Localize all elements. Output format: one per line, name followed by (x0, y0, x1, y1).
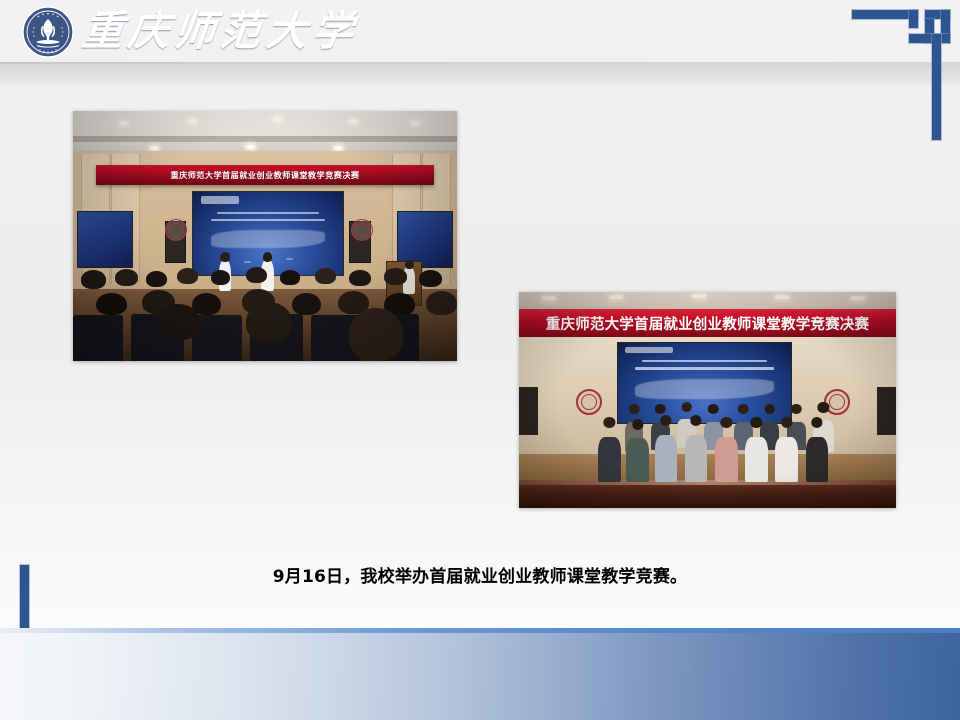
university-crest-icon (22, 6, 74, 58)
header-underlay-band (0, 64, 960, 86)
slide-caption: 9月16日，我校举办首届就业创业教师课堂教学竞赛。 (0, 562, 960, 587)
presentation-slide: 重庆师范大学 (0, 0, 960, 720)
slide-footer-band (0, 633, 960, 720)
photo-competition-hall[interactable]: 重庆师范大学首届就业创业教师课堂教学竞赛决赛 (73, 111, 457, 361)
university-name-title: 重庆师范大学 (79, 3, 361, 59)
photo-group-portrait[interactable]: 重庆师范大学首届就业创业教师课堂教学竞赛决赛 (519, 292, 896, 508)
